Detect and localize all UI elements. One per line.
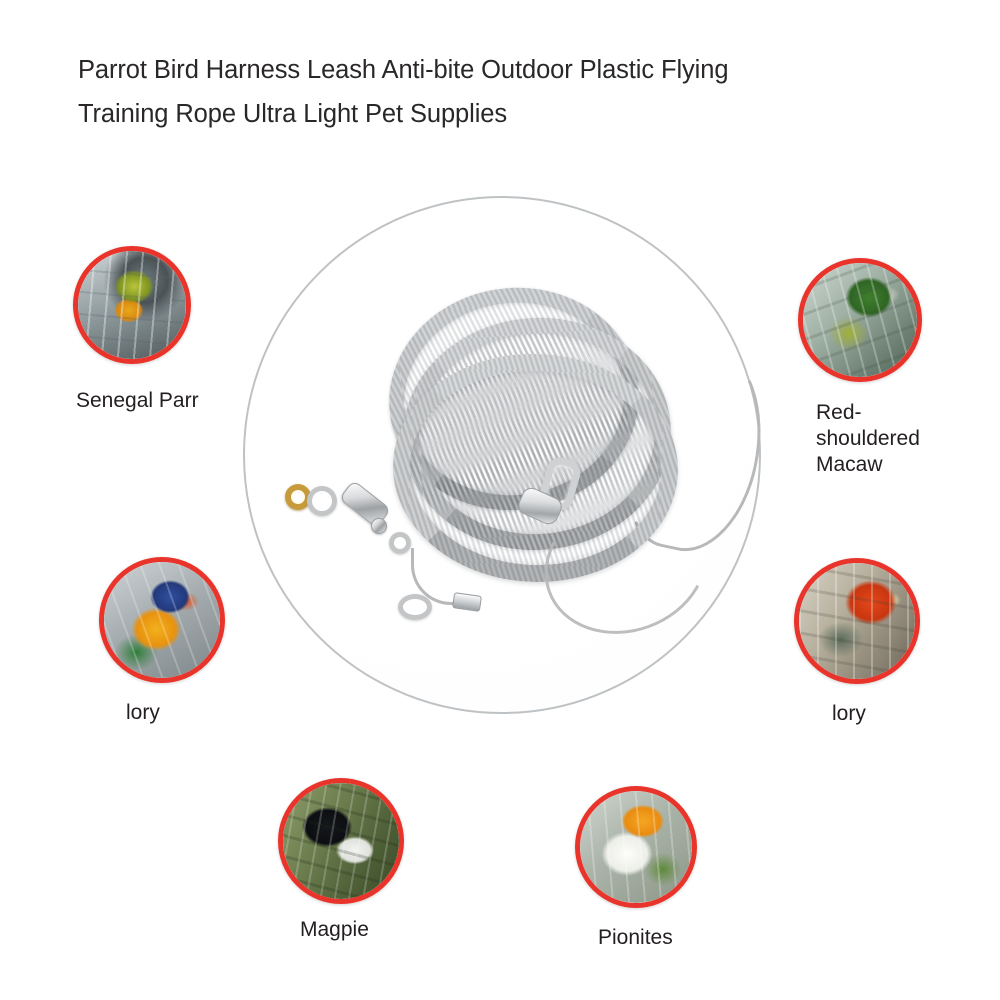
bird-caption-lory-left: lory xyxy=(126,700,246,726)
page-title: Parrot Bird Harness Leash Anti-bite Outd… xyxy=(78,48,958,136)
rainbow-lory-photo xyxy=(104,562,220,678)
steel-ring-icon xyxy=(307,486,337,516)
bird-caption-magpie: Magpie xyxy=(300,917,440,943)
bird-caption-pionites: Pionites xyxy=(598,925,748,951)
bird-caption-macaw: Red- shouldered Macaw xyxy=(816,400,966,478)
steel-ring-icon xyxy=(389,532,411,554)
bird-bubble-lory-right xyxy=(794,558,920,684)
hero-product-group xyxy=(243,196,763,716)
steel-ring-icon xyxy=(398,594,432,620)
senegal-parrot-photo xyxy=(78,251,186,359)
bird-bubble-lory-left xyxy=(99,557,225,683)
red-lory-photo xyxy=(799,563,915,679)
pionites-caique-photo xyxy=(580,791,692,903)
bird-bubble-pionites xyxy=(575,786,697,908)
bird-bubble-macaw xyxy=(798,258,922,382)
product-image-canvas: Parrot Bird Harness Leash Anti-bite Outd… xyxy=(0,0,1000,1000)
clasp-neck-icon xyxy=(371,518,387,534)
red-shouldered-macaw-photo xyxy=(803,263,917,377)
bird-caption-senegal: Senegal Parr xyxy=(76,388,246,414)
bird-bubble-magpie xyxy=(278,778,404,904)
magpie-photo xyxy=(283,783,399,899)
bird-bubble-senegal xyxy=(73,246,191,364)
bird-caption-lory-right: lory xyxy=(832,701,952,727)
